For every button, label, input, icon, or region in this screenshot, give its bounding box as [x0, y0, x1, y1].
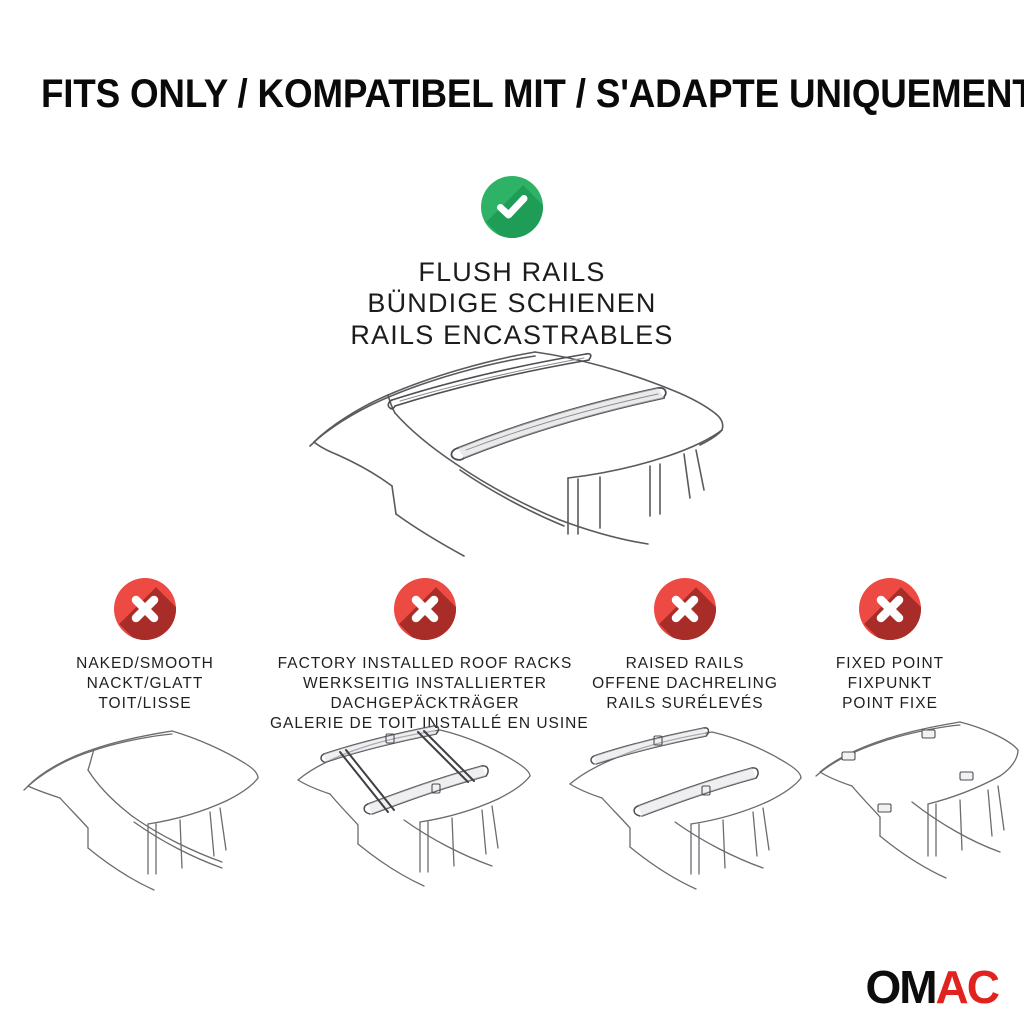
logo-text-red: AC	[936, 961, 998, 1013]
label-line-1: FIXED POINT	[800, 654, 980, 674]
badge-wrap	[45, 578, 245, 644]
compatible-label: FLUSH RAILS BÜNDIGE SCHIENEN RAILS ENCAS…	[0, 257, 1024, 351]
incompatible-item-naked-smooth: NAKED/SMOOTH NACKT/GLATT TOIT/LISSE	[45, 578, 245, 714]
badge-wrap	[585, 578, 785, 644]
x-circle-icon	[654, 578, 716, 640]
rail-fill	[458, 388, 664, 458]
x-circle-icon	[114, 578, 176, 640]
fitment-infographic: FITS ONLY / KOMPATIBEL MIT / S'ADAPTE UN…	[0, 0, 1024, 1024]
incompatible-item-fixed-point: FIXED POINT FIXPUNKT POINT FIXE	[800, 578, 980, 714]
incompatible-label: RAISED RAILS OFFENE DACHRELING RAILS SUR…	[585, 654, 785, 714]
label-line-1: FACTORY INSTALLED ROOF RACKS	[270, 654, 580, 674]
x-glyph	[859, 578, 921, 640]
compatible-label-line-2: BÜNDIGE SCHIENEN	[0, 288, 1024, 319]
x-circle-icon	[859, 578, 921, 640]
compatible-block: FLUSH RAILS BÜNDIGE SCHIENEN RAILS ENCAS…	[0, 176, 1024, 351]
incompatible-item-factory-roof-racks: FACTORY INSTALLED ROOF RACKS WERKSEITIG …	[270, 578, 580, 735]
x-circle-icon	[394, 578, 456, 640]
badge-wrap	[270, 578, 580, 644]
incompatible-item-raised-rails: RAISED RAILS OFFENE DACHRELING RAILS SUR…	[585, 578, 785, 714]
logo-text-dark: OM	[865, 961, 935, 1013]
incompatible-columns: NAKED/SMOOTH NACKT/GLATT TOIT/LISSE	[0, 578, 1024, 718]
label-line-3: POINT FIXE	[800, 694, 980, 714]
x-glyph	[654, 578, 716, 640]
label-line-3: RAILS SURÉLEVÉS	[585, 694, 785, 714]
x-glyph	[394, 578, 456, 640]
car-roof-flush-rails-illustration	[292, 338, 732, 566]
compatible-label-line-1: FLUSH RAILS	[0, 257, 1024, 288]
omac-logo: OMAC	[865, 964, 998, 1010]
car-roof-raised-rails-illustration	[556, 716, 808, 906]
x-glyph	[114, 578, 176, 640]
car-roof-naked-illustration	[14, 716, 266, 906]
label-line-2: WERKSEITIG INSTALLIERTER	[270, 674, 580, 694]
label-line-2: OFFENE DACHRELING	[585, 674, 785, 694]
label-line-2: FIXPUNKT	[800, 674, 980, 694]
incompatible-illustrations	[0, 716, 1024, 906]
check-glyph	[481, 176, 543, 238]
car-roof-factory-racks-illustration	[282, 716, 546, 906]
car-roof-fixed-point-illustration	[812, 716, 1024, 906]
incompatible-label: NAKED/SMOOTH NACKT/GLATT TOIT/LISSE	[45, 654, 245, 714]
label-line-3: TOIT/LISSE	[45, 694, 245, 714]
page-title: FITS ONLY / KOMPATIBEL MIT / S'ADAPTE UN…	[41, 72, 983, 117]
badge-wrap	[800, 578, 980, 644]
label-line-1: NAKED/SMOOTH	[45, 654, 245, 674]
incompatible-label: FIXED POINT FIXPUNKT POINT FIXE	[800, 654, 980, 714]
label-line-1: RAISED RAILS	[585, 654, 785, 674]
check-circle-icon	[481, 176, 543, 238]
label-line-2: NACKT/GLATT	[45, 674, 245, 694]
label-line-3: DACHGEPÄCKTRÄGER	[270, 694, 580, 714]
